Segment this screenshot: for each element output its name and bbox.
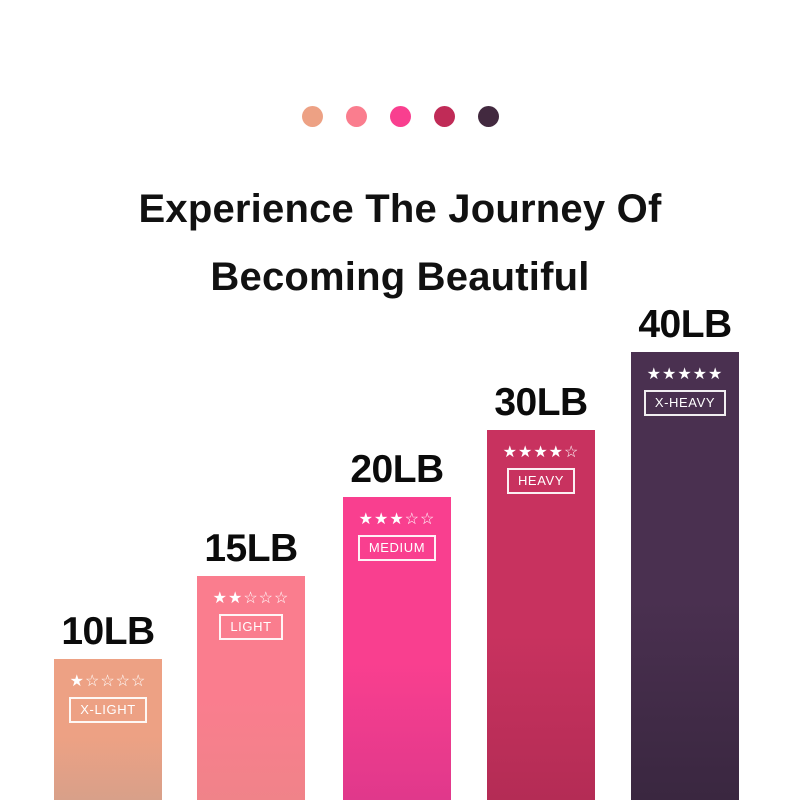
bar-weight-label: 15LB <box>204 528 297 570</box>
bar-weight-label: 10LB <box>61 611 154 653</box>
star-rating: ★★☆☆☆ <box>213 590 290 607</box>
star-rating: ★★★★☆ <box>503 444 580 461</box>
bar-fill <box>631 352 739 800</box>
resistance-level-badge: MEDIUM <box>358 535 436 561</box>
bar-body: ★★★★☆HEAVY <box>487 430 595 800</box>
resistance-level-badge: LIGHT <box>219 614 282 640</box>
star-rating: ★☆☆☆☆ <box>70 673 147 690</box>
bar-inner-content: ★★☆☆☆LIGHT <box>197 590 305 640</box>
resistance-band-bar-chart: 10LB★☆☆☆☆X-LIGHT15LB★★☆☆☆LIGHT20LB★★★☆☆M… <box>0 0 800 800</box>
bar-body: ★★★☆☆MEDIUM <box>343 497 451 800</box>
bar-inner-content: ★★★☆☆MEDIUM <box>343 511 451 561</box>
bar-inner-content: ★★★★★X-HEAVY <box>631 366 739 416</box>
bar-15lb[interactable]: 15LB★★☆☆☆LIGHT <box>197 576 305 800</box>
bar-weight-label: 20LB <box>350 449 443 491</box>
bar-10lb[interactable]: 10LB★☆☆☆☆X-LIGHT <box>54 659 162 800</box>
bar-weight-label: 40LB <box>638 304 731 346</box>
bar-inner-content: ★★★★☆HEAVY <box>487 444 595 494</box>
star-rating: ★★★☆☆ <box>359 511 436 528</box>
bar-body: ★★☆☆☆LIGHT <box>197 576 305 800</box>
resistance-level-badge: X-HEAVY <box>644 390 726 416</box>
star-rating: ★★★★★ <box>647 366 724 383</box>
bar-20lb[interactable]: 20LB★★★☆☆MEDIUM <box>343 497 451 800</box>
bar-weight-label: 30LB <box>494 382 587 424</box>
bar-inner-content: ★☆☆☆☆X-LIGHT <box>54 673 162 723</box>
bar-30lb[interactable]: 30LB★★★★☆HEAVY <box>487 430 595 800</box>
resistance-level-badge: HEAVY <box>507 468 575 494</box>
bar-body: ★☆☆☆☆X-LIGHT <box>54 659 162 800</box>
bar-body: ★★★★★X-HEAVY <box>631 352 739 800</box>
resistance-level-badge: X-LIGHT <box>69 697 146 723</box>
bar-40lb[interactable]: 40LB★★★★★X-HEAVY <box>631 352 739 800</box>
